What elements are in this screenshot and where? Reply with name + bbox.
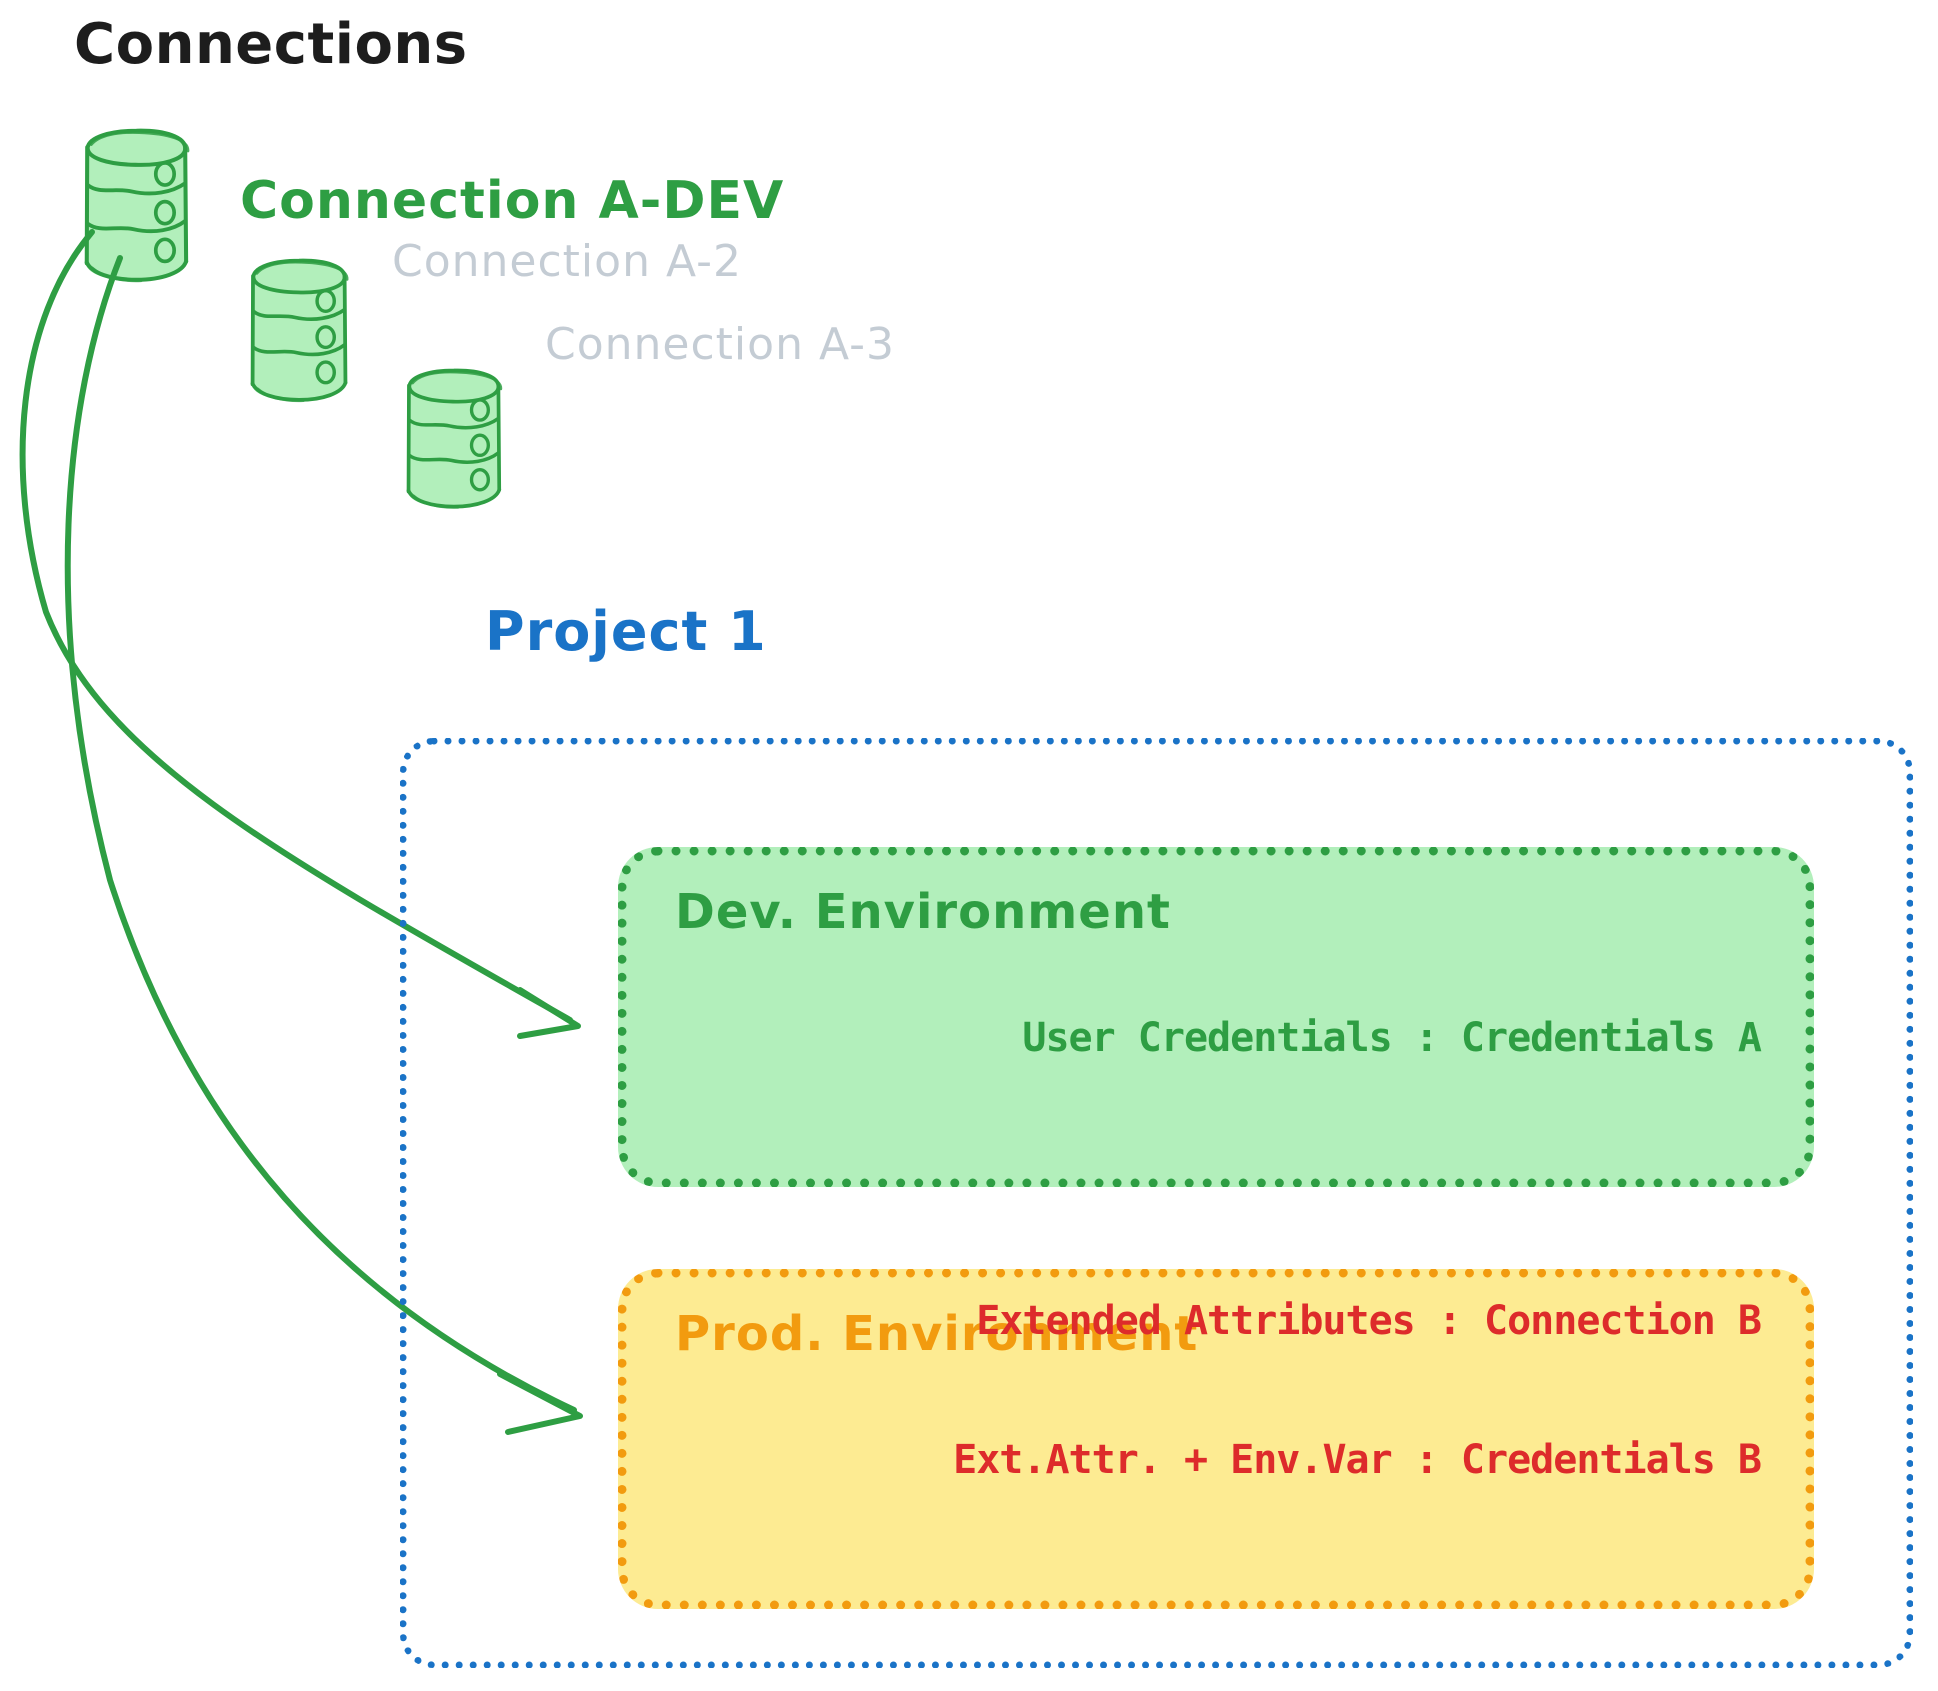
dev-environment-box[interactable]: Dev. Environment User Credentials : Cred… — [618, 847, 1814, 1187]
project-title: Project 1 — [485, 602, 767, 662]
connection-label-a-3[interactable]: Connection A-3 — [545, 320, 895, 369]
connection-label-a-dev[interactable]: Connection A-DEV — [240, 172, 784, 230]
dev-detail-line: User Credentials : Credentials A — [1022, 1015, 1761, 1062]
prod-environment-details: Extended Attributes : Connection B Ext.A… — [953, 1206, 1761, 1576]
database-icon[interactable] — [252, 260, 347, 401]
database-icon[interactable] — [408, 370, 501, 508]
project-container: Dev. Environment User Credentials : Cred… — [400, 738, 1913, 1668]
prod-environment-box[interactable]: Prod. Environment Extended Attributes : … — [618, 1269, 1814, 1609]
prod-detail-line: Ext.Attr. + Env.Var : Credentials B — [953, 1437, 1761, 1484]
connection-label-a-2[interactable]: Connection A-2 — [392, 237, 742, 286]
diagram-canvas: Connections Connection A-DEV Connection … — [0, 0, 1938, 1691]
prod-detail-line: Extended Attributes : Connection B — [953, 1298, 1761, 1345]
page-title: Connections — [74, 14, 468, 77]
database-icon[interactable] — [86, 130, 188, 281]
dev-environment-details: User Credentials : Credentials A — [1022, 923, 1761, 1154]
